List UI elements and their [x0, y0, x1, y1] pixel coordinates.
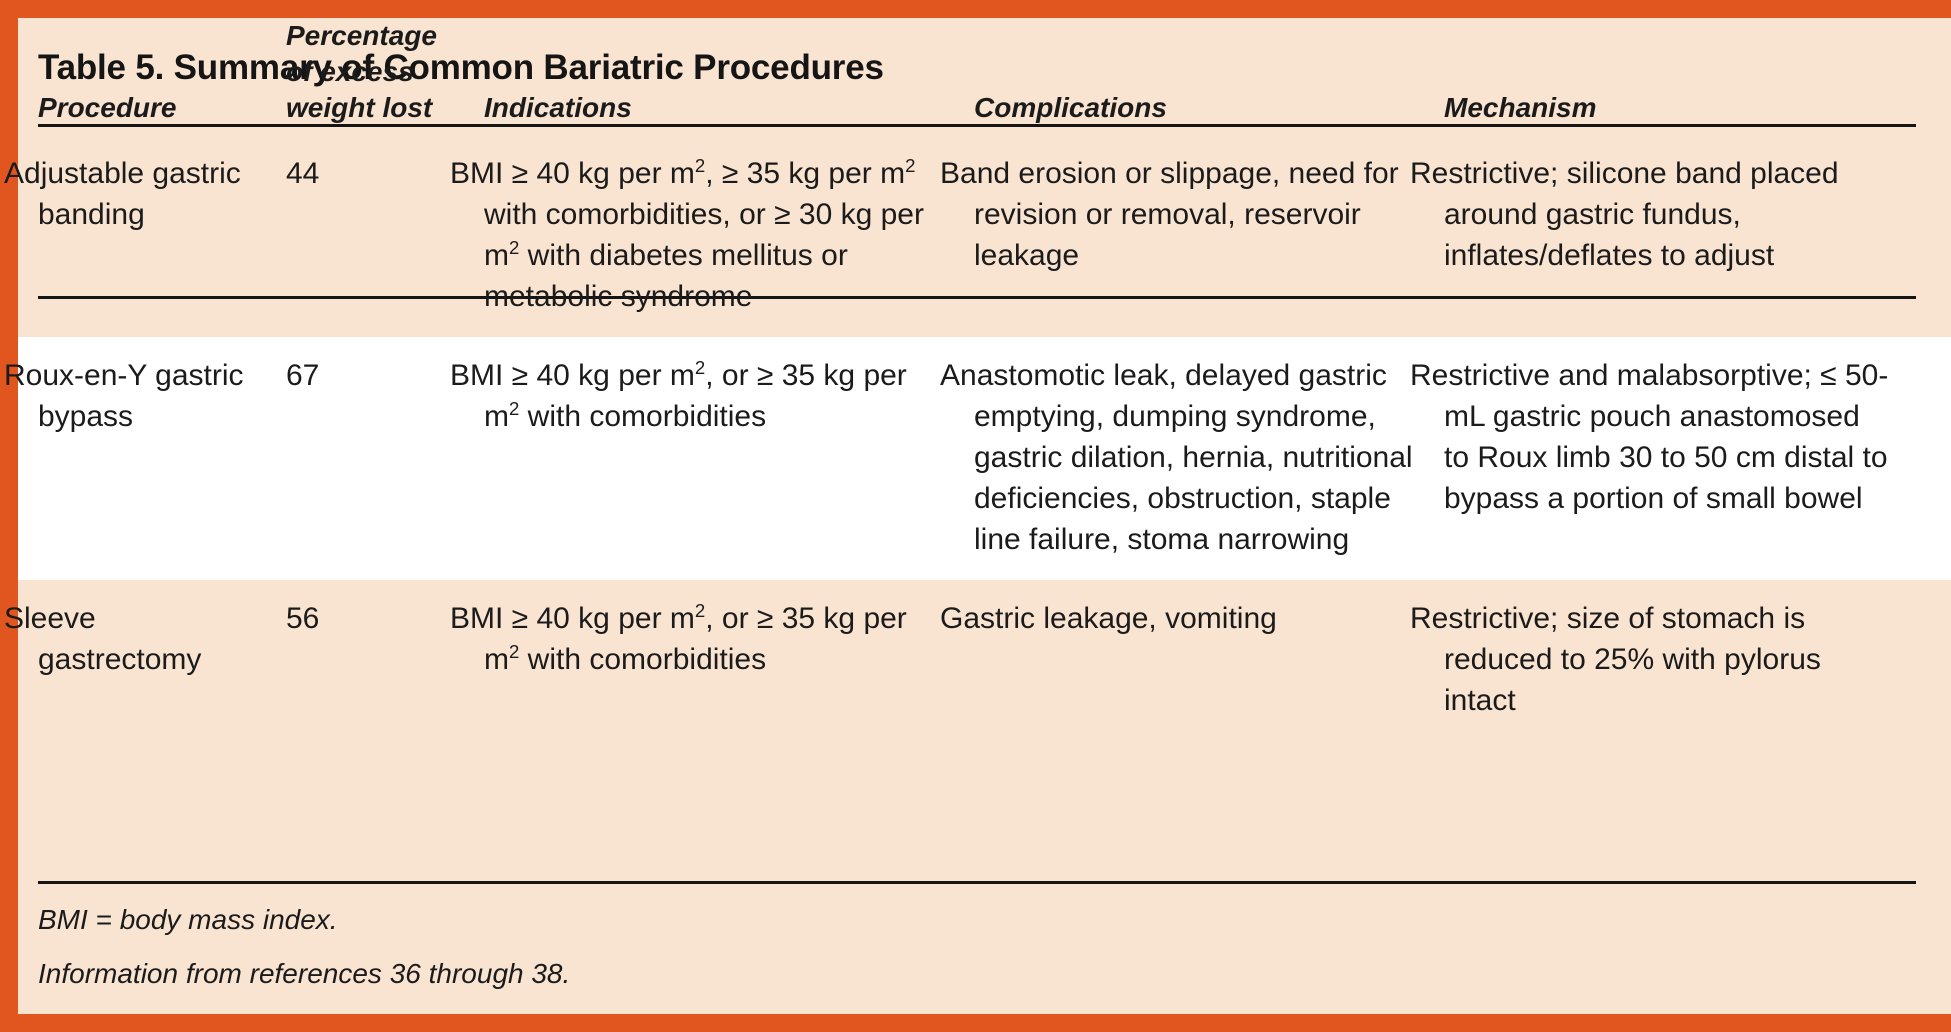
footnote-references: Information from references 36 through 3… — [38, 956, 1916, 992]
column-header-complications-label: Complications — [974, 90, 1444, 126]
cell-indications: BMI ≥ 40 kg per m2, or ≥ 35 kg per m2 wi… — [484, 580, 974, 741]
cell-indications: BMI ≥ 40 kg per m2, or ≥ 35 kg per m2 wi… — [484, 337, 974, 580]
cell-mechanism: Restrictive; silicone band placed around… — [1444, 135, 1916, 337]
column-header-procedure-label: Procedure — [38, 90, 286, 126]
column-header-indications: x x Indications — [484, 18, 974, 135]
column-header-indications-label: Indications — [484, 90, 974, 126]
table-row: Sleeve gastrectomy56BMI ≥ 40 kg per m2, … — [38, 580, 1916, 741]
top-accent-bar — [0, 0, 1951, 18]
cell-procedure: Roux-en-Y gastric bypass — [38, 337, 286, 580]
cell-procedure: Sleeve gastrectomy — [38, 580, 286, 741]
cell-mechanism: Restrictive; size of stomach is reduced … — [1444, 580, 1916, 741]
footnote-abbreviation: BMI = body mass index. — [38, 902, 1916, 938]
table-head: x x Procedure Percentage of excess weigh… — [38, 18, 1916, 135]
column-header-complications: x x Complications — [974, 18, 1444, 135]
column-header-percentage-line1: Percentage — [286, 18, 484, 54]
column-header-percentage-line2: of excess — [286, 54, 484, 90]
table-row: Roux-en-Y gastric bypass67BMI ≥ 40 kg pe… — [38, 337, 1916, 580]
cell-indications: BMI ≥ 40 kg per m2, ≥ 35 kg per m2 with … — [484, 135, 974, 337]
data-table: x x Procedure Percentage of excess weigh… — [38, 18, 1916, 741]
cell-complications: Anastomotic leak, delayed gastric emptyi… — [974, 337, 1444, 580]
cell-procedure: Adjustable gastric banding — [38, 135, 286, 337]
bariatric-procedures-table-figure: Table 5. Summary of Common Bariatric Pro… — [0, 0, 1951, 1032]
footer-divider — [38, 881, 1916, 884]
cell-mechanism: Restrictive and malabsorptive; ≤ 50-mL g… — [1444, 337, 1916, 580]
header-row: x x Procedure Percentage of excess weigh… — [38, 18, 1916, 135]
column-header-percentage: Percentage of excess weight lost — [286, 18, 484, 135]
table-sheet: Table 5. Summary of Common Bariatric Pro… — [18, 18, 1951, 1014]
column-header-mechanism-label: Mechanism — [1444, 90, 1916, 126]
table-body: Adjustable gastric banding44BMI ≥ 40 kg … — [38, 135, 1916, 741]
bottom-accent-bar — [0, 1014, 1951, 1032]
column-header-procedure: x x Procedure — [38, 18, 286, 135]
cell-complications: Band erosion or slippage, need for revis… — [974, 135, 1444, 337]
column-header-mechanism: x x Mechanism — [1444, 18, 1916, 135]
cell-complications: Gastric leakage, vomiting — [974, 580, 1444, 741]
table-row: Adjustable gastric banding44BMI ≥ 40 kg … — [38, 135, 1916, 337]
footnotes: BMI = body mass index. Information from … — [38, 902, 1916, 1010]
column-header-percentage-line3: weight lost — [286, 90, 484, 126]
